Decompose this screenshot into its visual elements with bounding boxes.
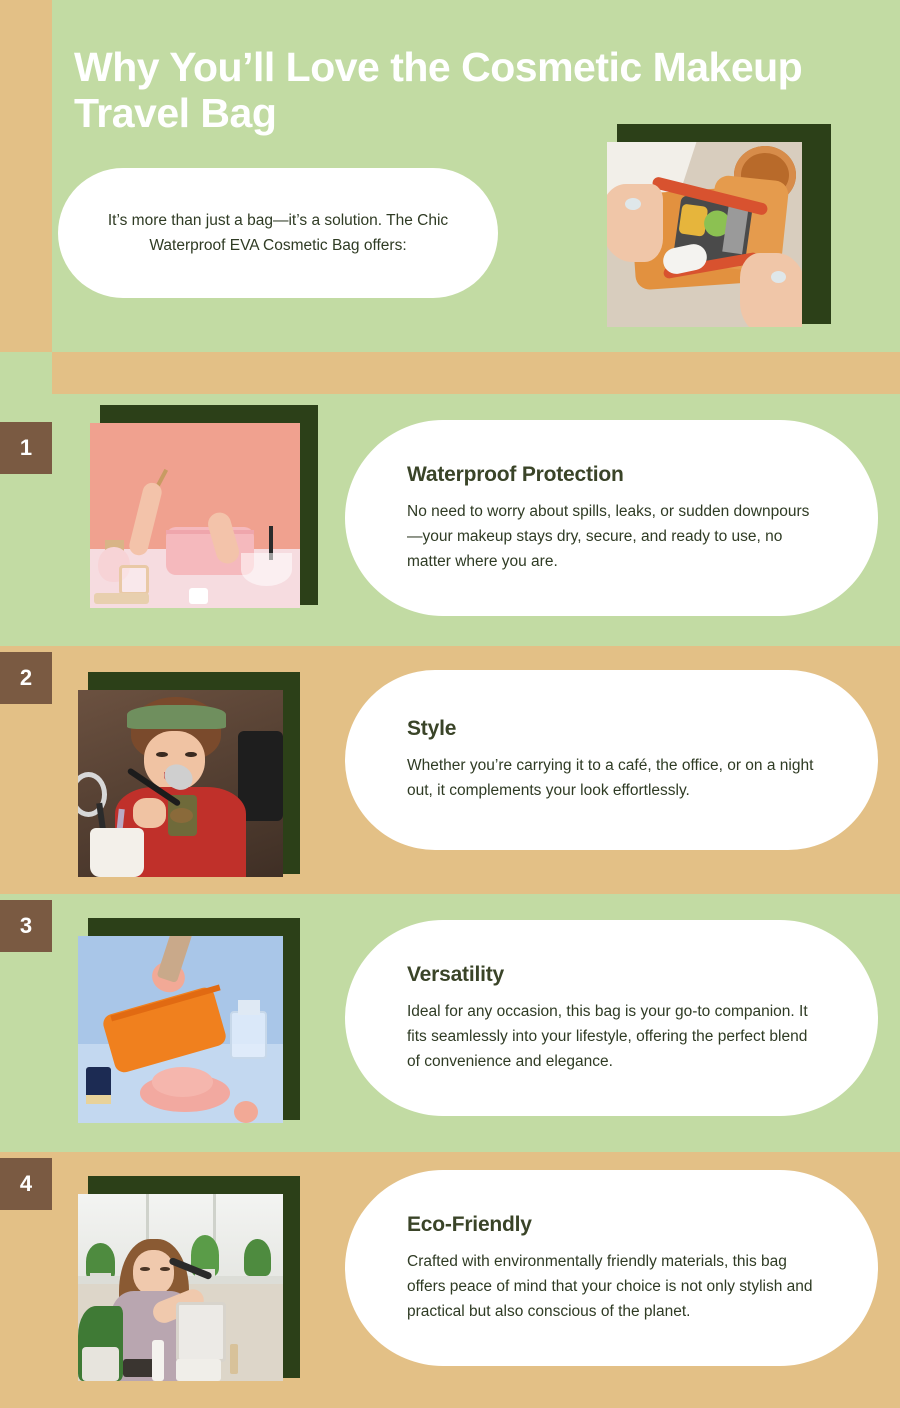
feature-card-4: Eco-Friendly Crafted with environmentall…	[345, 1170, 878, 1366]
feature-body: No need to worry about spills, leaks, or…	[407, 499, 816, 574]
feature-3-image	[78, 936, 283, 1123]
feature-body: Ideal for any occasion, this bag is your…	[407, 999, 816, 1074]
feature-4-image	[78, 1194, 283, 1381]
feature-heading: Versatility	[407, 963, 816, 987]
hero-image	[607, 142, 802, 327]
feature-body: Whether you’re carrying it to a café, th…	[407, 753, 816, 803]
feature-body: Crafted with environmentally friendly ma…	[407, 1249, 816, 1324]
feature-number-badge: 1	[0, 422, 52, 474]
hero-left-rail	[0, 0, 52, 352]
feature-2-image	[78, 690, 283, 877]
feature-card-3: Versatility Ideal for any occasion, this…	[345, 920, 878, 1116]
intro-pill: It’s more than just a bag—it’s a solutio…	[58, 168, 498, 298]
intro-text: It’s more than just a bag—it’s a solutio…	[104, 208, 452, 258]
divider-band	[52, 352, 900, 394]
feature-number-badge: 4	[0, 1158, 52, 1210]
feature-heading: Waterproof Protection	[407, 463, 816, 487]
feature-heading: Style	[407, 717, 816, 741]
feature-heading: Eco-Friendly	[407, 1213, 816, 1237]
feature-number-badge: 3	[0, 900, 52, 952]
feature-number-badge: 2	[0, 652, 52, 704]
page-title: Why You’ll Love the Cosmetic Makeup Trav…	[74, 44, 834, 136]
feature-card-1: Waterproof Protection No need to worry a…	[345, 420, 878, 616]
feature-card-2: Style Whether you’re carrying it to a ca…	[345, 670, 878, 850]
feature-1-image	[90, 423, 300, 608]
